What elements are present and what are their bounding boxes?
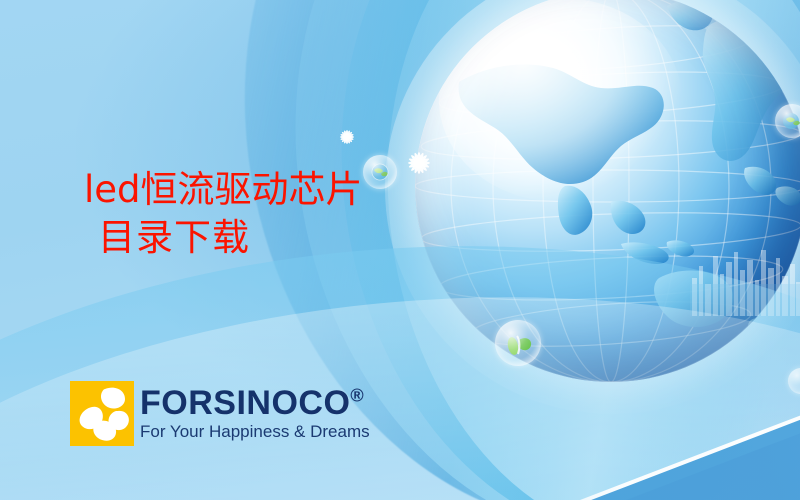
brand-name-text: FORSINOCO (140, 384, 350, 422)
headline-line-2: 目录下载 (98, 214, 363, 262)
brand-name: FORSINOCO® (140, 387, 370, 420)
headline-line-1: led恒流驱动芯片 (84, 168, 363, 211)
banner-canvas: led恒流驱动芯片 目录下载 FORSINOCO® For Your Happ (0, 0, 800, 500)
registered-trademark-symbol: ® (350, 386, 364, 406)
page-title: led恒流驱动芯片 目录下载 (84, 166, 363, 262)
city-skyline-icon (690, 244, 800, 316)
asterisk-sparkle-icon (404, 148, 434, 183)
four-petal-flower-icon (70, 381, 134, 446)
brand-logo: FORSINOCO® For Your Happiness & Dreams (70, 381, 370, 446)
bubble-icon (495, 320, 541, 366)
asterisk-sparkle-icon (336, 126, 358, 153)
bubble-icon (363, 155, 397, 189)
brand-tagline: For Your Happiness & Dreams (140, 422, 370, 442)
brand-text-block: FORSINOCO® For Your Happiness & Dreams (140, 381, 370, 442)
bubble-icon (775, 104, 800, 138)
